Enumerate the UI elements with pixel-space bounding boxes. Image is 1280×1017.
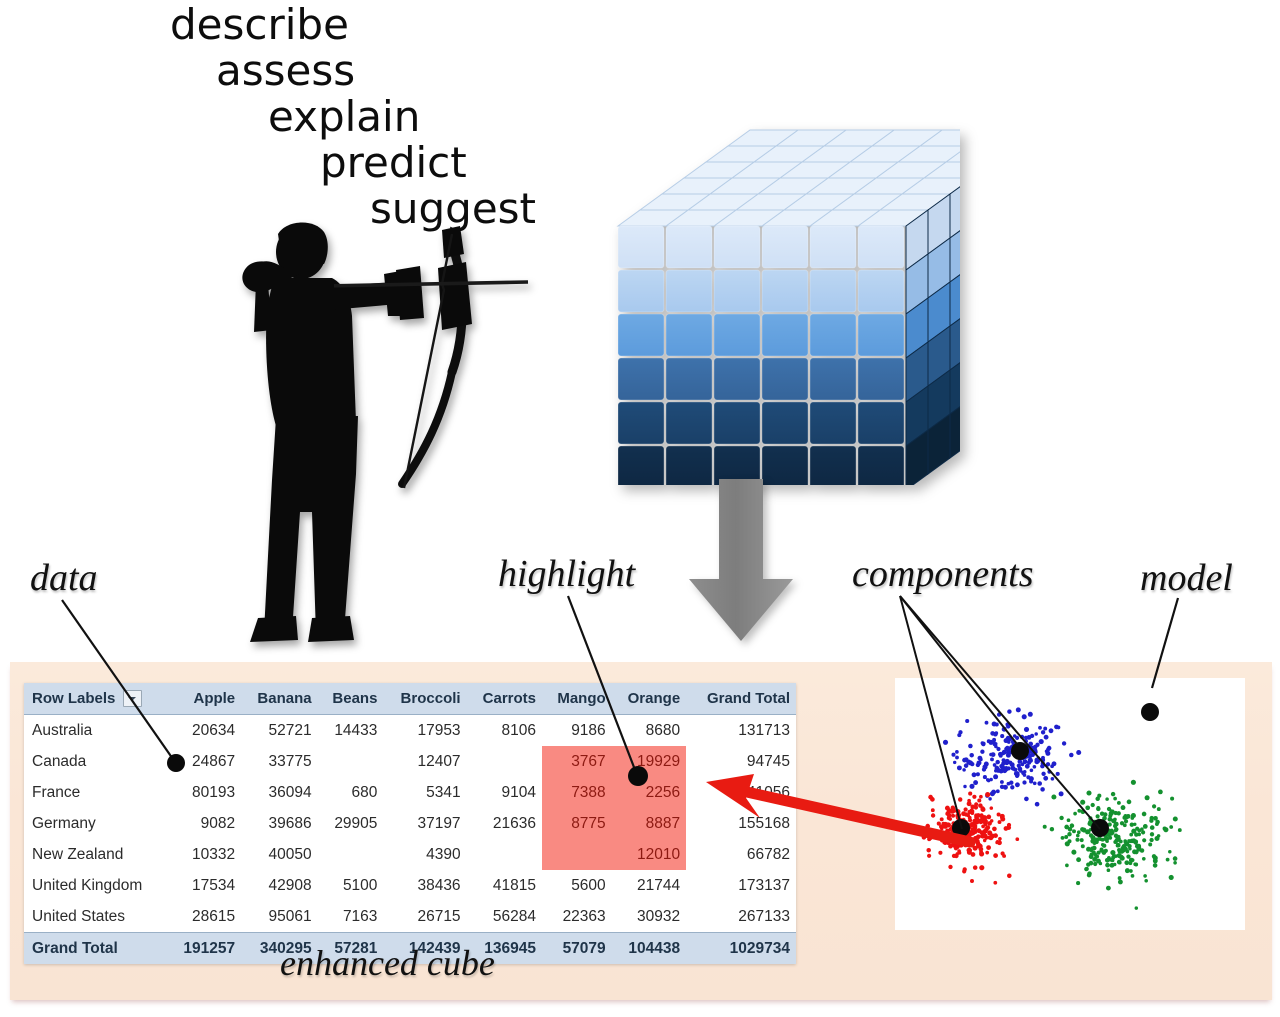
table-cell: 56284 (467, 901, 542, 933)
data-cube-icon (560, 100, 960, 485)
column-header-orange[interactable]: Orange (612, 683, 686, 715)
enhanced-cube-pivot-table[interactable]: Row Labels AppleBananaBeansBroccoliCarro… (24, 683, 796, 964)
model-marker (1141, 703, 1159, 721)
scatter-series-red-cluster (922, 792, 1019, 885)
table-cell: 66782 (686, 839, 796, 870)
verb-assess: assess (216, 48, 550, 94)
row-label-cell: United Kingdom (24, 870, 168, 901)
row-label-cell: Germany (24, 808, 168, 839)
table-cell: 8680 (612, 715, 686, 747)
table-cell: 95061 (241, 901, 317, 933)
table-cell: 8775 (542, 808, 612, 839)
table-cell: 680 (318, 777, 384, 808)
table-cell (318, 839, 384, 870)
callout-label-data: data (30, 556, 98, 600)
row-label-cell: Australia (24, 715, 168, 747)
verb-describe: describe (170, 2, 550, 48)
table-header-row: Row Labels AppleBananaBeansBroccoliCarro… (24, 683, 796, 715)
table-row[interactable]: Australia2063452721144331795381069186868… (24, 715, 796, 747)
table-cell: 80193 (168, 777, 242, 808)
table-cell: 10332 (168, 839, 242, 870)
table-cell: 21744 (612, 870, 686, 901)
table-cell: 29905 (318, 808, 384, 839)
table-cell (542, 839, 612, 870)
table-cell: 36094 (241, 777, 317, 808)
verb-predict: predict (320, 140, 550, 186)
table-cell: 7388 (542, 777, 612, 808)
table-cell: 12407 (383, 746, 466, 777)
down-arrow-icon (683, 475, 798, 645)
component-marker-green (1091, 819, 1109, 837)
table-cell: 12010 (612, 839, 686, 870)
table-cell: 40050 (241, 839, 317, 870)
row-label-cell: New Zealand (24, 839, 168, 870)
components-scatter-plot[interactable] (895, 678, 1245, 930)
table-row[interactable]: United Kingdom17534429085100384364181556… (24, 870, 796, 901)
table-cell: 141056 (686, 777, 796, 808)
table-cell: 37197 (383, 808, 466, 839)
table-cell: 24867 (168, 746, 242, 777)
table-cell: 4390 (383, 839, 466, 870)
table-cell: 7163 (318, 901, 384, 933)
grand-total-label: Grand Total (24, 933, 168, 965)
table-cell: 38436 (383, 870, 466, 901)
callout-label-model: model (1140, 556, 1233, 600)
table-cell: 26715 (383, 901, 466, 933)
grand-total-cell: 191257 (168, 933, 242, 965)
column-header-broccoli[interactable]: Broccoli (383, 683, 466, 715)
table-cell: 9186 (542, 715, 612, 747)
table-cell: 5100 (318, 870, 384, 901)
scatter-series-blue-cluster (943, 707, 1081, 806)
table-cell: 155168 (686, 808, 796, 839)
table-cell: 14433 (318, 715, 384, 747)
verb-explain: explain (268, 94, 550, 140)
table-cell: 5341 (383, 777, 466, 808)
callout-label-highlight: highlight (498, 552, 635, 596)
table-cell: 3767 (542, 746, 612, 777)
row-label-cell: Canada (24, 746, 168, 777)
column-header-row-labels[interactable]: Row Labels (24, 683, 168, 715)
table-cell: 94745 (686, 746, 796, 777)
table-cell: 5600 (542, 870, 612, 901)
row-label-cell: France (24, 777, 168, 808)
table-cell: 9104 (467, 777, 542, 808)
table-cell: 17953 (383, 715, 466, 747)
row-label-cell: United States (24, 901, 168, 933)
table-cell (467, 839, 542, 870)
table-body: Australia2063452721144331795381069186868… (24, 715, 796, 933)
table-cell: 41815 (467, 870, 542, 901)
row-labels-text: Row Labels (32, 690, 115, 707)
component-marker-red (952, 819, 970, 837)
table-cell: 39686 (241, 808, 317, 839)
table-cell: 173137 (686, 870, 796, 901)
table-cell: 8887 (612, 808, 686, 839)
table-cell: 28615 (168, 901, 242, 933)
table-cell: 267133 (686, 901, 796, 933)
table-row[interactable]: United States286159506171632671556284223… (24, 901, 796, 933)
table-cell: 131713 (686, 715, 796, 747)
table-row[interactable]: Germany908239686299053719721636877588871… (24, 808, 796, 839)
table-row[interactable]: France8019336094680534191047388225614105… (24, 777, 796, 808)
column-header-carrots[interactable]: Carrots (467, 683, 542, 715)
table-cell: 30932 (612, 901, 686, 933)
grand-total-cell: 1029734 (686, 933, 796, 965)
filter-dropdown-icon[interactable] (123, 690, 142, 707)
scatter-series-green-cluster (1043, 780, 1182, 910)
action-verb-stack: describe assess explain predict suggest (170, 2, 550, 232)
table-cell: 20634 (168, 715, 242, 747)
table-cell: 33775 (241, 746, 317, 777)
table-cell: 42908 (241, 870, 317, 901)
table-cell: 52721 (241, 715, 317, 747)
table-cell: 9082 (168, 808, 242, 839)
panel-caption: enhanced cube (280, 942, 495, 984)
table-cell: 2256 (612, 777, 686, 808)
grand-total-cell: 104438 (612, 933, 686, 965)
table-cell: 17534 (168, 870, 242, 901)
table-cell: 8106 (467, 715, 542, 747)
table-cell (318, 746, 384, 777)
column-header-mango[interactable]: Mango (542, 683, 612, 715)
column-header-beans[interactable]: Beans (318, 683, 384, 715)
table-cell (467, 746, 542, 777)
column-header-apple[interactable]: Apple (168, 683, 242, 715)
table-cell: 22363 (542, 901, 612, 933)
component-marker-blue (1011, 742, 1029, 760)
callout-label-components: components (852, 552, 1034, 596)
grand-total-cell: 57079 (542, 933, 612, 965)
table-cell: 21636 (467, 808, 542, 839)
column-header-grand-total[interactable]: Grand Total (686, 683, 796, 715)
column-header-banana[interactable]: Banana (241, 683, 317, 715)
table-cell: 19929 (612, 746, 686, 777)
table-row[interactable]: Canada24867337751240737671992994745 (24, 746, 796, 777)
table-row[interactable]: New Zealand103324005043901201066782 (24, 839, 796, 870)
